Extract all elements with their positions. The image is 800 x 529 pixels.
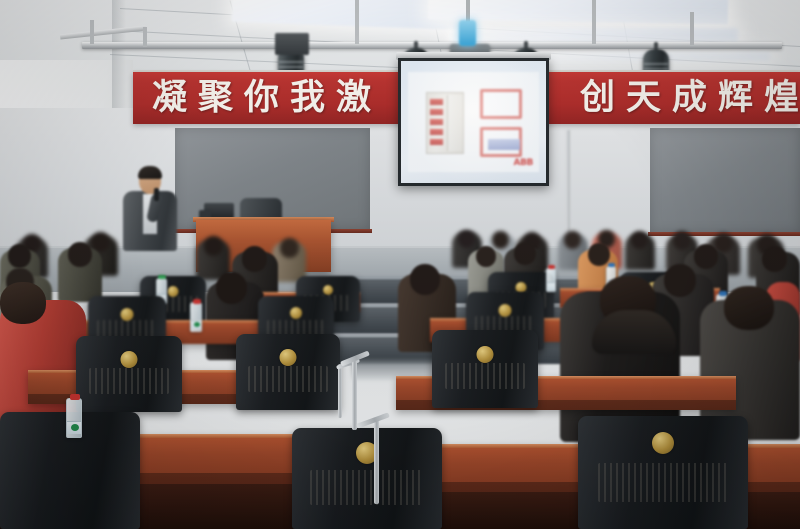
bottle-cap [719, 291, 727, 296]
projection-screen: ABB [398, 58, 549, 186]
audience-head [564, 231, 581, 249]
chair-slats [89, 368, 170, 394]
presentation-slide: ABB [408, 72, 539, 172]
fur-collar [592, 310, 676, 354]
slide-diagram-box-bottom [480, 127, 522, 157]
audience-head [458, 230, 475, 248]
audience-head [631, 231, 648, 249]
audience-head [724, 286, 774, 330]
truss-drop [90, 20, 94, 44]
chair-slats [310, 470, 424, 504]
slide-cabinet-photo [426, 92, 464, 154]
cabinet-label [430, 129, 443, 135]
chair-medallion [290, 307, 302, 319]
presenter-hair [138, 166, 162, 179]
audience-head [280, 238, 299, 258]
audience-head [514, 242, 536, 265]
slide-diagram-box-top [480, 89, 522, 119]
bottle-cap [608, 263, 615, 267]
bottle-logo [71, 424, 79, 431]
chair-slats [598, 463, 727, 501]
cabinet-label [430, 119, 443, 125]
presenter-speaking [119, 168, 181, 264]
water-bottle [546, 268, 556, 292]
audience-head [492, 231, 509, 249]
bottle-label [547, 282, 555, 290]
chair-leg [338, 364, 342, 418]
audience-head [588, 243, 610, 266]
audience-head [8, 244, 31, 268]
abb-logo: ABB [514, 158, 534, 168]
cabinet-door [447, 95, 463, 151]
audience-head [664, 264, 696, 297]
truss-drop [690, 12, 694, 45]
acoustic-panel-right [650, 128, 800, 233]
chair-medallion [477, 346, 494, 363]
projector-lens [459, 20, 476, 46]
banner-text-right: 创天成辉煌 [580, 74, 800, 122]
slide-diagram-fill [488, 139, 520, 150]
bottle-cap [70, 394, 80, 400]
chair-medallion [121, 351, 138, 368]
cabinet-label [430, 109, 443, 115]
audience-head [204, 236, 223, 256]
audience-head [762, 246, 787, 272]
audience-head [694, 244, 718, 269]
wall-conduit [566, 130, 570, 235]
chair-frame [352, 360, 357, 430]
bottle-cap [548, 265, 555, 269]
spotlight-ring [279, 66, 303, 68]
chair-slats [248, 366, 327, 392]
chair-medallion [499, 304, 512, 317]
bottle-cap [193, 299, 201, 304]
chair-frame [374, 420, 379, 504]
microphone [154, 188, 159, 201]
truss-drop [592, 0, 596, 44]
ceiling-speaker [275, 33, 309, 55]
chair-medallion [168, 286, 179, 297]
chair-medallion [652, 432, 674, 454]
auditorium-chair [76, 336, 182, 412]
conference-hall-photo: 凝聚你我激 创天成辉煌 [0, 0, 800, 529]
auditorium-chair-foreground [292, 428, 442, 529]
spotlight-ring [644, 63, 668, 65]
audience-head [673, 231, 691, 250]
auditorium-chair [432, 330, 538, 408]
truss-drop [355, 0, 359, 44]
chair-medallion [323, 285, 333, 295]
audience-head [410, 264, 440, 295]
projector-mount [466, 0, 470, 22]
audience-head [68, 242, 92, 267]
auditorium-chair-foreground [578, 416, 748, 529]
lighting-truss [82, 42, 782, 49]
chair-slats [445, 363, 526, 390]
audience-head [242, 246, 267, 272]
chair-medallion [121, 308, 134, 321]
truss-drop [143, 27, 147, 47]
cabinet-label [430, 99, 443, 105]
bottle-logo [194, 322, 200, 327]
chair-medallion [516, 282, 527, 293]
screen-surface: ABB [401, 61, 546, 183]
audience-head [476, 246, 496, 267]
banner-text-left: 凝聚你我激 [152, 74, 382, 122]
chair-medallion [280, 349, 297, 366]
water-bottle [66, 398, 82, 438]
auditorium-chair [236, 334, 340, 410]
audience-head [216, 272, 247, 304]
water-bottle [190, 302, 202, 332]
audience-head [0, 282, 46, 324]
cabinet-label [430, 139, 443, 145]
bottle-cap [158, 275, 166, 279]
spotlight-ring [279, 61, 303, 63]
